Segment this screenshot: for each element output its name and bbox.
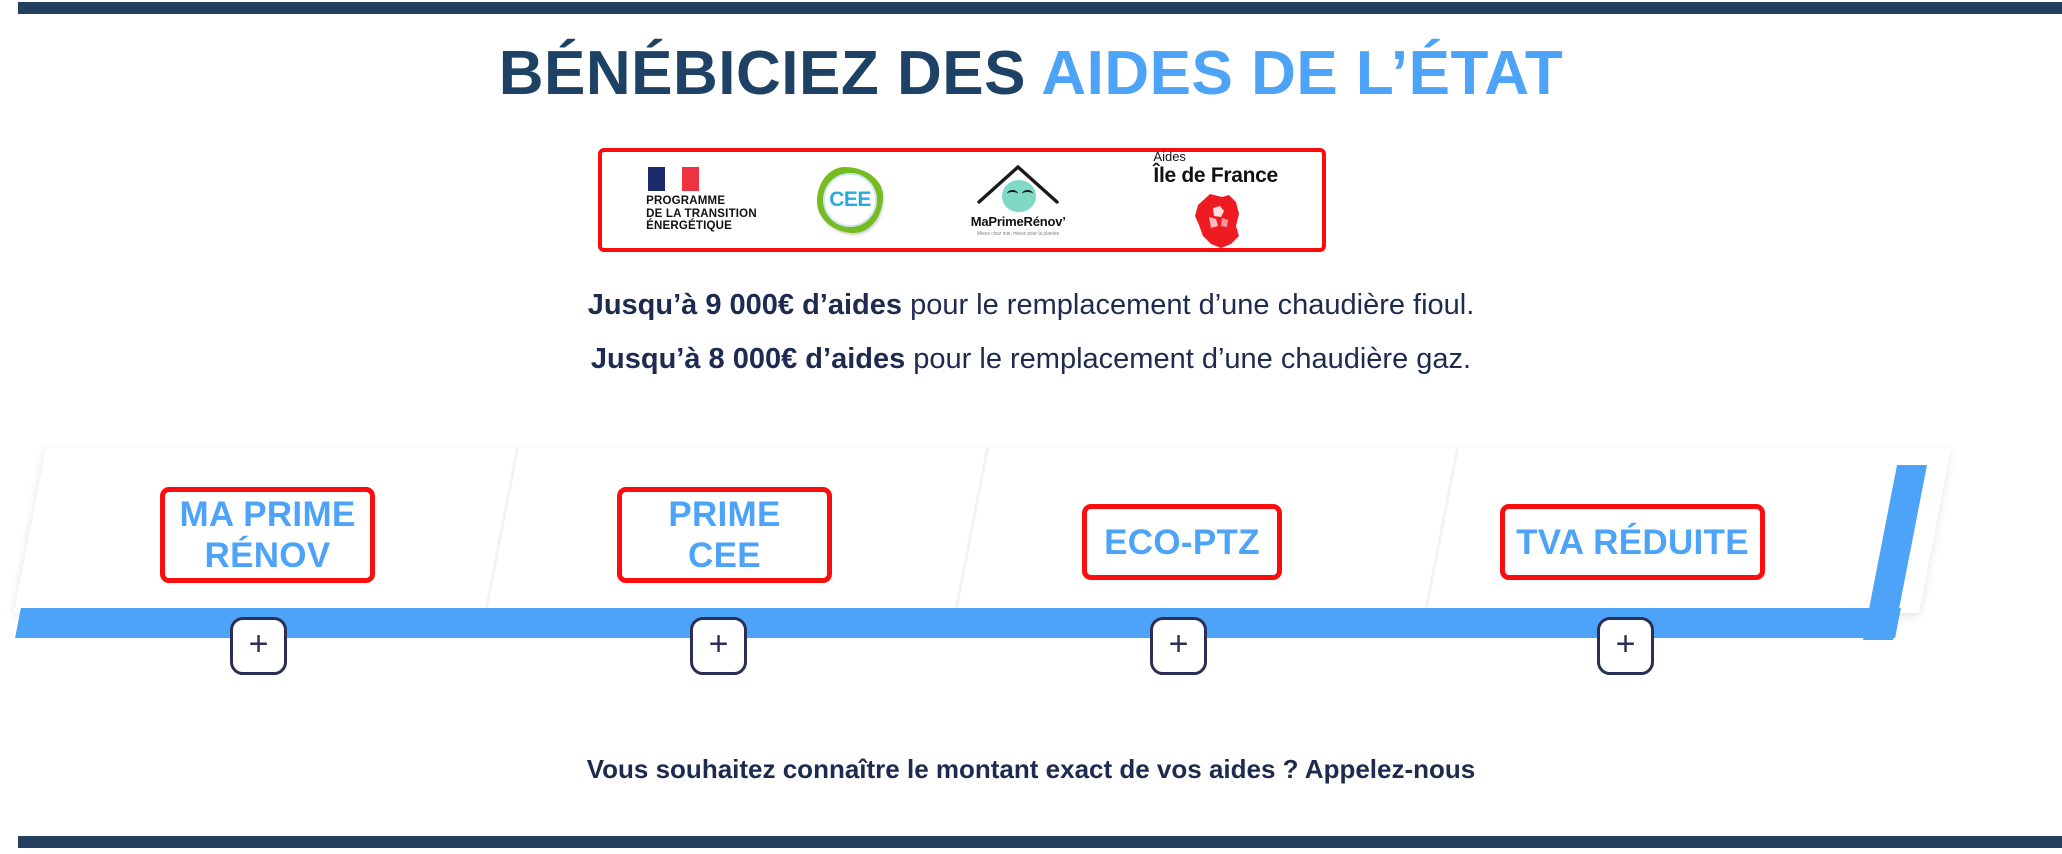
cee-logo: CEE [817,167,883,233]
aid-expand-button-eco-ptz[interactable]: + [1150,617,1207,675]
aid-amount-fioul-rest: pour le remplacement d’une chaudière fio… [902,289,1474,321]
maprimerenov-house-icon [976,164,1060,212]
aid-expand-button-prime-cee[interactable]: + [690,617,747,675]
maprimerenov-label: MaPrimeRénov’ [971,214,1066,229]
aid-amount-gaz-rest: pour le remplacement d’une chaudière gaz… [905,343,1471,375]
plus-icon: + [1616,627,1636,661]
panel-divider-3 [1424,448,1459,613]
aid-card-ma-prime-renov[interactable]: MA PRIMERÉNOV [160,487,375,583]
maprimerenov-logo: MaPrimeRénov’ Mieux chez moi, mieux pour… [943,164,1093,236]
top-divider-bar [18,2,2062,14]
aides-ile-de-france-logo: Aides Île de France [1153,150,1278,250]
programme-line-3: ÉNERGÉTIQUE [646,220,757,233]
programme-transition-energetique-logo: PROGRAMME DE LA TRANSITION ÉNERGÉTIQUE [646,167,757,233]
programme-logo-text: PROGRAMME DE LA TRANSITION ÉNERGÉTIQUE [646,195,757,233]
idf-big-label: Île de France [1153,165,1278,186]
aid-card-eco-ptz[interactable]: ECO-PTZ [1082,504,1282,580]
french-flag-icon [648,167,699,191]
programme-line-2: DE LA TRANSITION [646,208,757,221]
page-root: BÉNÉBICIEZ DES AIDES DE L’ÉTAT PROGRAMME… [0,0,2062,854]
page-title-light: AIDES DE L’ÉTAT [1041,39,1563,108]
page-title-dark: BÉNÉBICIEZ DES [499,39,1042,108]
plus-icon: + [709,627,729,661]
aid-expand-button-ma-prime-renov[interactable]: + [230,617,287,675]
aid-amount-line-gaz: Jusqu’à 8 000€ d’aides pour le remplacem… [0,332,2062,386]
maprimerenov-tagline: Mieux chez moi, mieux pour la planète [977,231,1059,237]
aid-expand-button-tva-reduite[interactable]: + [1597,617,1654,675]
aid-amount-gaz-bold: Jusqu’à 8 000€ d’aides [591,343,905,375]
aid-card-tva-reduite-label: TVA RÉDUITE [1516,522,1749,563]
programme-line-1: PROGRAMME [646,195,757,208]
partner-logo-band: PROGRAMME DE LA TRANSITION ÉNERGÉTIQUE C… [598,148,1326,252]
panel-divider-1 [484,448,519,613]
aid-card-prime-cee[interactable]: PRIMECEE [617,487,832,583]
aid-amount-fioul-bold: Jusqu’à 9 000€ d’aides [588,289,902,321]
aids-banner: MA PRIMERÉNOV + PRIMECEE + ECO-PTZ + TVA… [0,430,2062,660]
footer-question: Vous souhaitez connaître le montant exac… [0,754,2062,785]
panel-divider-2 [954,448,989,613]
aid-card-ma-prime-renov-label: MA PRIMERÉNOV [179,494,355,576]
bottom-divider-bar [18,836,2062,848]
ile-de-france-map-icon [1189,192,1243,250]
aid-card-tva-reduite[interactable]: TVA RÉDUITE [1500,504,1765,580]
aid-card-prime-cee-label: PRIMECEE [668,494,780,576]
aid-card-eco-ptz-label: ECO-PTZ [1104,522,1260,563]
idf-small-label: Aides [1153,150,1186,163]
plus-icon: + [1169,627,1189,661]
page-title: BÉNÉBICIEZ DES AIDES DE L’ÉTAT [0,38,2062,109]
cee-badge-icon: CEE [817,167,883,233]
cee-logo-label: CEE [829,188,871,212]
aid-amount-lines: Jusqu’à 9 000€ d’aides pour le remplacem… [0,278,2062,386]
aid-amount-line-fioul: Jusqu’à 9 000€ d’aides pour le remplacem… [0,278,2062,332]
plus-icon: + [249,627,269,661]
